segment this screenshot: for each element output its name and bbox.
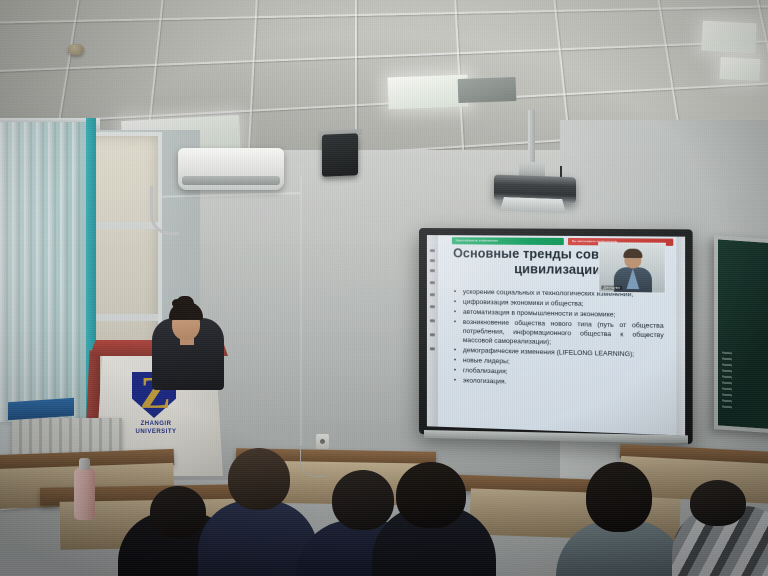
participant-name-label: Докладчик xyxy=(601,285,622,289)
meeting-id-bar: Идентификатор конференции xyxy=(452,237,564,245)
water-bottle xyxy=(74,468,95,520)
wall-seam xyxy=(300,176,302,446)
projector-pole xyxy=(528,110,535,170)
logo-line-1: ZHANGIR xyxy=(112,420,200,428)
whiteboard-right-toolbar[interactable] xyxy=(677,237,686,436)
presentation-slide: Идентификатор конференции Вы записываете… xyxy=(438,235,677,435)
video-participant-thumbnail[interactable]: Докладчик xyxy=(598,242,666,293)
university-logo-text: ZHANGIR UNIVERSITY xyxy=(112,420,200,436)
bottle-cap xyxy=(79,458,90,470)
wall-speaker-icon xyxy=(322,133,358,177)
lecture-hall-photo: Идентификатор конференции Вы записываете… xyxy=(0,0,768,576)
window-blinds[interactable] xyxy=(0,122,90,422)
chalkboard xyxy=(714,235,768,435)
ac-pipe xyxy=(150,186,179,235)
air-conditioner xyxy=(178,148,284,190)
whiteboard-toolbar[interactable] xyxy=(427,235,438,427)
logo-line-2: UNIVERSITY xyxy=(112,428,200,436)
projector-lens-icon xyxy=(500,197,566,213)
interactive-whiteboard[interactable]: Идентификатор конференции Вы записываете… xyxy=(419,228,693,444)
slide-bullet-list: ускорение социальных и технологических и… xyxy=(454,287,664,391)
cable xyxy=(300,446,325,477)
list-item: возникновение общества нового типа (путь… xyxy=(463,317,664,350)
presenter-hair-bun xyxy=(176,296,194,307)
